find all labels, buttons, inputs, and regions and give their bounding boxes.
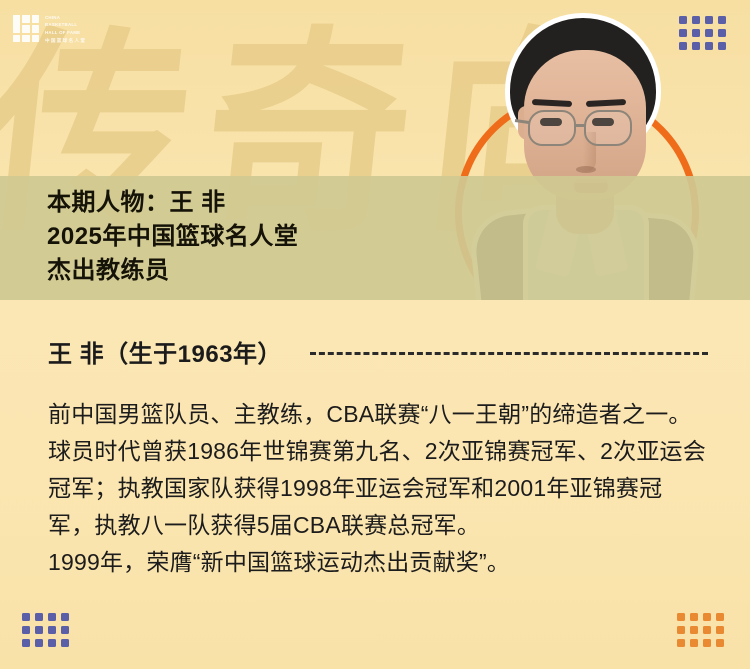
banner-line-1: 本期人物：王 非: [47, 186, 477, 220]
profile-name-heading: 王 非（生于1963年）: [48, 334, 282, 369]
profile-paragraph-1: 前中国男篮队员、主教练，CBA联赛“八一王朝”的缔造者之一。: [48, 396, 708, 433]
poster-canvas: 传奇向 CHINA BASKETBALL HALL OF FAME 中国篮球名人…: [0, 0, 750, 669]
logo-mark-icon: [13, 15, 39, 42]
banner-line-2: 2025年中国篮球名人堂: [47, 220, 477, 254]
profile-body: 前中国男篮队员、主教练，CBA联赛“八一王朝”的缔造者之一。 球员时代曾获198…: [48, 396, 708, 581]
portrait-nostril: [576, 166, 596, 173]
glasses-lens-right-icon: [584, 110, 632, 146]
title-banner-text: 本期人物：王 非 2025年中国篮球名人堂 杰出教练员: [47, 186, 477, 288]
profile-paragraph-2: 球员时代曾获1986年世锦赛第九名、2次亚锦赛冠军、2次亚运会冠军；执教国家队获…: [48, 433, 708, 544]
logo-en-line3: HALL OF FAME: [45, 30, 86, 35]
banner-line-3: 杰出教练员: [47, 254, 477, 288]
logo: CHINA BASKETBALL HALL OF FAME 中国篮球名人堂: [13, 14, 86, 44]
glasses-lens-left-icon: [528, 110, 576, 146]
profile-paragraph-3: 1999年，荣膺“新中国篮球运动杰出贡献奖”。: [48, 544, 708, 581]
glasses-bridge-icon: [576, 124, 586, 127]
dashed-divider: [310, 352, 708, 355]
dot-grid-bottom-right: [677, 613, 724, 647]
logo-cn-line: 中国篮球名人堂: [45, 38, 86, 44]
logo-en-line1: CHINA: [45, 15, 86, 20]
logo-text-block: CHINA BASKETBALL HALL OF FAME 中国篮球名人堂: [45, 14, 86, 44]
profile-name-row: 王 非（生于1963年）: [48, 334, 708, 369]
dot-grid-bottom-left: [22, 613, 69, 647]
logo-en-line2: BASKETBALL: [45, 22, 86, 27]
